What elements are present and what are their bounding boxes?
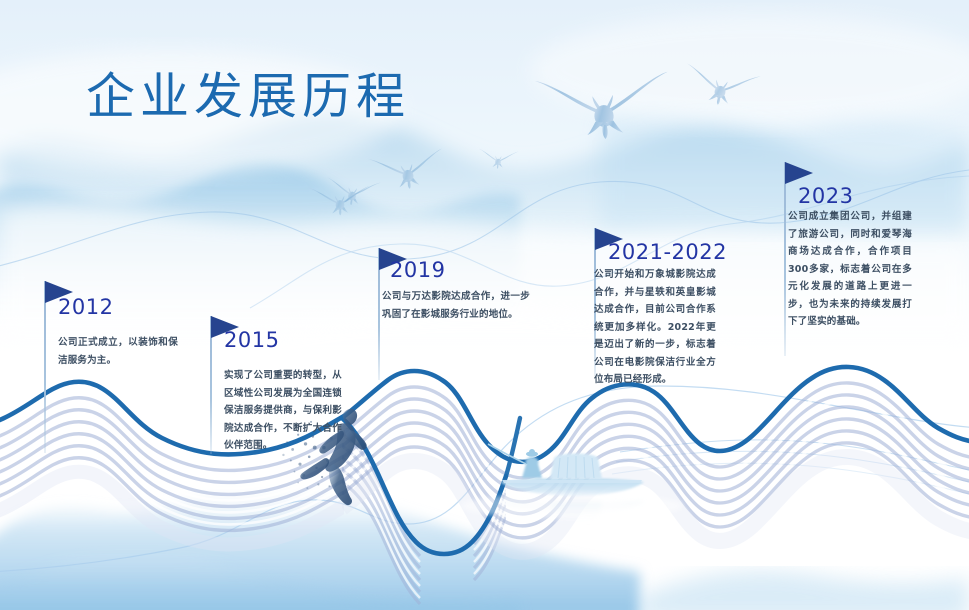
milestone-year: 2019 (390, 258, 445, 282)
milestone-year: 2023 (798, 184, 853, 208)
milestone-year: 2012 (58, 295, 113, 319)
page-title: 企业发展历程 (86, 57, 410, 128)
milestone-year: 2015 (224, 328, 279, 352)
milestone-year: 2021-2022 (608, 240, 727, 264)
poster-canvas: 企业发展历程 2012公司正式成立，以装饰和保洁服务为主。 2015实现了公司重… (0, 0, 969, 610)
